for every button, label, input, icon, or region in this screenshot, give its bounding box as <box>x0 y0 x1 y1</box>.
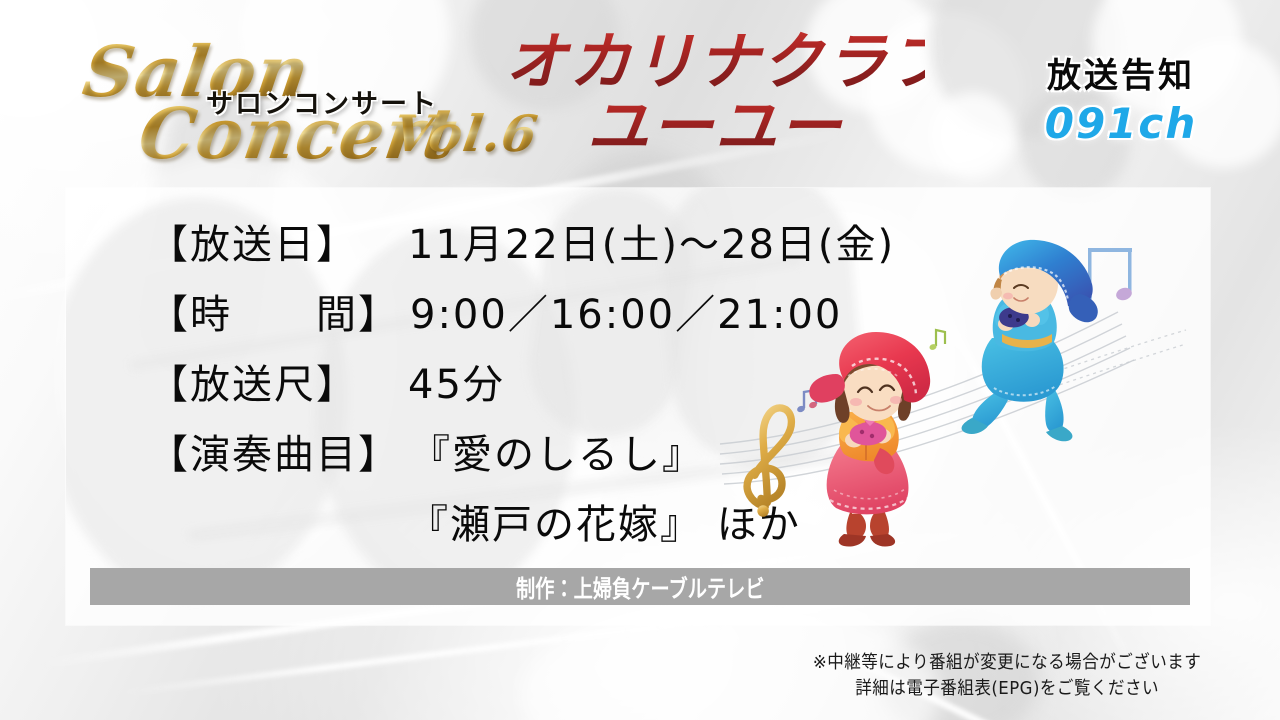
detail-row: 【放送日】 11月22日(土)〜28日(金) <box>148 212 1128 282</box>
detail-label: 【放送日】 <box>148 212 398 270</box>
disclaimer-line1: ※中継等により番組が変更になる場合がございます <box>813 650 1201 676</box>
header: Salon Concert Vol.6 サロンコンサート オカリナクラブ ユーユ… <box>0 0 1280 186</box>
detail-row: 【時 間】 9:00／16:00／21:00 <box>148 282 1128 352</box>
channel-number: 091ch <box>1006 99 1236 148</box>
production-credit-bar: 制作：上婦負ケーブルテレビ <box>90 568 1190 605</box>
disclaimer-note: ※中継等により番組が変更になる場合がございます 詳細は電子番組表(EPG)をご覧… <box>796 650 1218 702</box>
program-title-line1: オカリナクラブ <box>505 30 925 93</box>
program-details-list: 【放送日】 11月22日(土)〜28日(金) 【時 間】 9:00／16:00／… <box>148 212 1128 564</box>
logo-subtitle: サロンコンサート <box>206 82 438 121</box>
detail-row-continuation: 『瀬戸の花嫁』 ほか <box>148 492 1128 564</box>
detail-value: 9:00／16:00／21:00 <box>410 282 842 340</box>
program-title: オカリナクラブ ユーユー <box>505 30 925 158</box>
disclaimer-line2: 詳細は電子番組表(EPG)をご覧ください <box>813 676 1201 702</box>
detail-value: 『愛のしるし』 <box>410 422 704 480</box>
song-second-title: 『瀬戸の花嫁』 ほか <box>408 492 801 550</box>
broadcast-notice-label: 放送告知 <box>1006 48 1236 97</box>
salon-concert-logo: Salon Concert Vol.6 サロンコンサート <box>78 30 498 170</box>
detail-value: 45分 <box>408 352 505 410</box>
broadcast-announcement-slide: Salon Concert Vol.6 サロンコンサート オカリナクラブ ユーユ… <box>0 0 1280 720</box>
detail-label: 【放送尺】 <box>148 352 398 410</box>
program-title-line2: ユーユー <box>505 95 925 158</box>
detail-row: 【放送尺】 45分 <box>148 352 1128 422</box>
info-panel: 【放送日】 11月22日(土)〜28日(金) 【時 間】 9:00／16:00／… <box>66 188 1210 625</box>
detail-label: 【演奏曲目】 <box>148 422 400 480</box>
production-credit-text: 制作：上婦負ケーブルテレビ <box>516 569 764 604</box>
detail-row: 【演奏曲目】 『愛のしるし』 <box>148 422 1128 492</box>
channel-block: 放送告知 091ch <box>1006 48 1236 148</box>
detail-value: 11月22日(土)〜28日(金) <box>408 212 895 270</box>
detail-label: 【時 間】 <box>148 282 400 340</box>
